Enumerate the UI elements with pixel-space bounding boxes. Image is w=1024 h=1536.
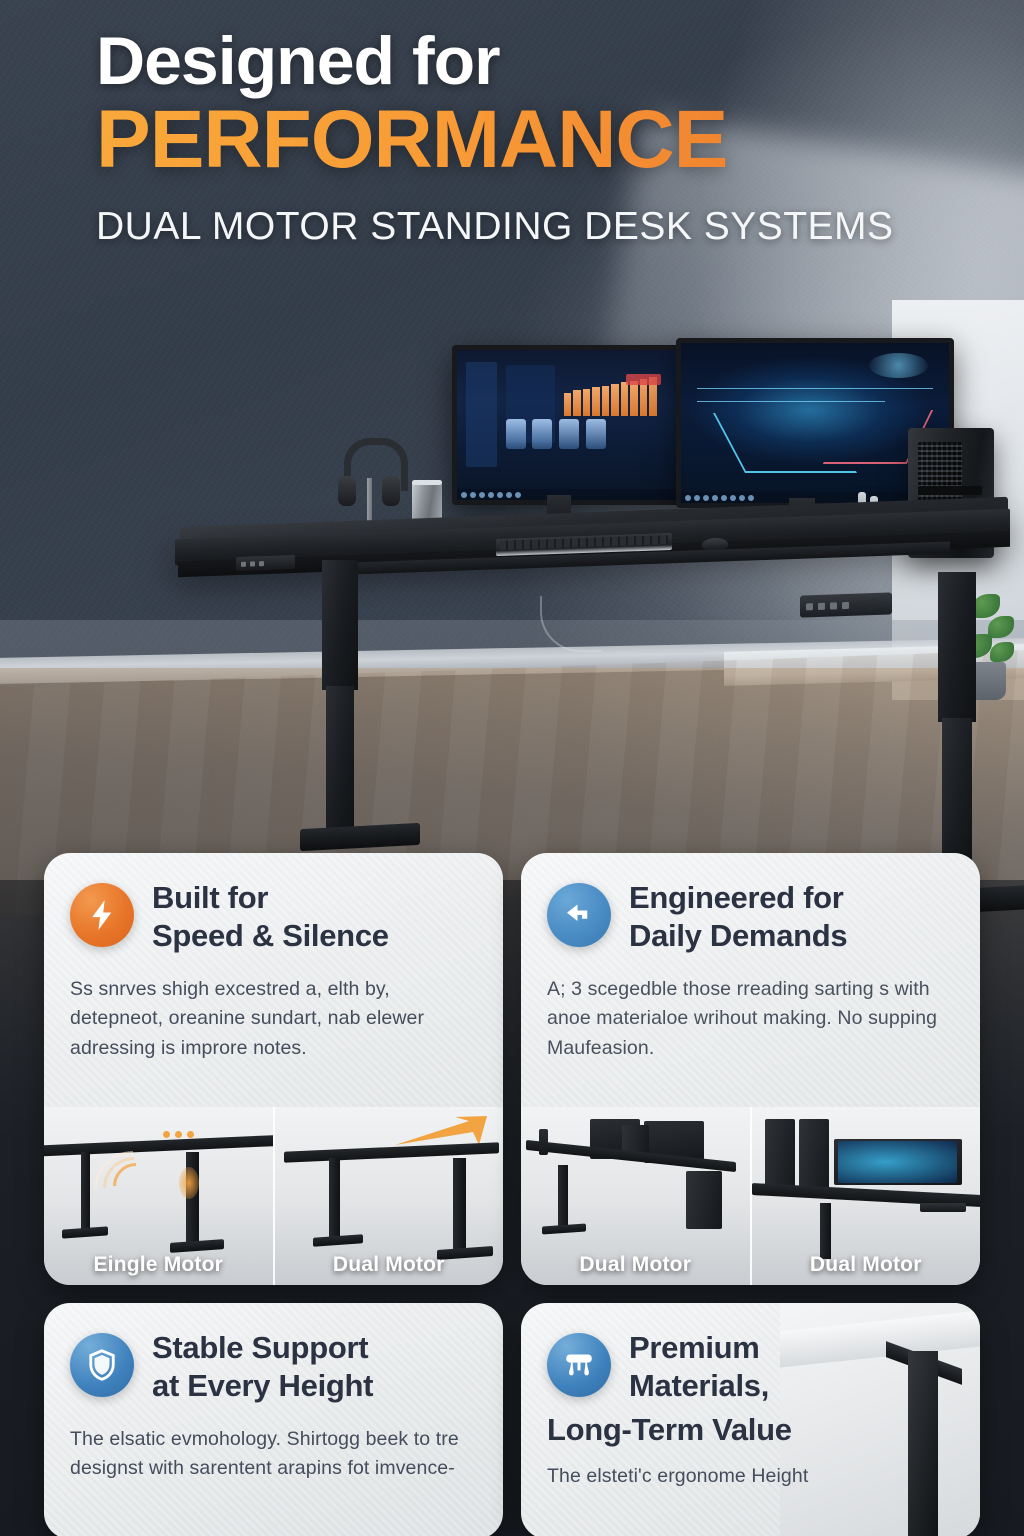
headphones-on-stand (338, 438, 400, 516)
feature-card-stable-support[interactable]: Stable Support at Every Height The elsat… (44, 1303, 503, 1536)
card-title-line-1: Premium (629, 1329, 769, 1367)
card-title: Engineered for Daily Demands (629, 879, 847, 955)
headline-primary: Designed for (96, 26, 984, 97)
thumbnail-workstation-desk: Dual Motor (750, 1107, 981, 1285)
card-thumbnail-strip: Dual Motor Dual Motor (521, 1107, 980, 1285)
poster-header: Designed for PERFORMANCE DUAL MOTOR STAN… (0, 0, 1024, 249)
feature-card-daily-demands[interactable]: Engineered for Daily Demands A; 3 sceged… (521, 853, 980, 1285)
card-body-text: The elsatic evmohology. Shirtogg beek to… (70, 1425, 477, 1484)
card-title: Stable Support at Every Height (152, 1329, 373, 1405)
thumbnail-label: Dual Motor (275, 1253, 504, 1277)
card-title: Premium Materials, (629, 1329, 769, 1405)
desk-leg-left-lower (326, 686, 354, 846)
card-body-text: A; 3 scegedble those rreading sarting s … (547, 975, 954, 1064)
desk-control-panel-small[interactable] (236, 555, 295, 571)
headphone-earcup (338, 476, 356, 506)
feature-card-speed-silence[interactable]: Built for Speed & Silence Ss snrves shig… (44, 853, 503, 1285)
headline-accent: PERFORMANCE (96, 99, 984, 181)
desk-leg-left-upper (322, 560, 358, 690)
desk-foot-left (300, 823, 420, 851)
card-title-line-3: Long-Term Value (547, 1411, 954, 1449)
thumbnail-dual-motor: Dual Motor (273, 1107, 504, 1285)
thumbnail-long-dual-desk: Dual Motor (521, 1107, 750, 1285)
desk-cable (540, 596, 602, 652)
monitor-left-screen (457, 350, 679, 500)
feature-cards-grid: Built for Speed & Silence Ss snrves shig… (0, 853, 1024, 1536)
desk-leg-right-upper (938, 572, 976, 722)
poster-page: Designed for PERFORMANCE DUAL MOTOR STAN… (0, 0, 1024, 1536)
card-thumbnail-strip: Eingle Motor Dual Motor (44, 1107, 503, 1285)
card-title-line-1: Stable Support (152, 1329, 373, 1367)
card-title-line-2: at Every Height (152, 1367, 373, 1405)
feature-card-premium-materials[interactable]: Premium Materials, Long-Term Value The e… (521, 1303, 980, 1536)
desk-height-controller[interactable] (800, 592, 892, 617)
card-title-line-1: Engineered for (629, 879, 847, 917)
card-body-text: Ss snrves shigh excestred a, elth by, de… (70, 975, 477, 1064)
card-title-line-2: Materials, (629, 1367, 769, 1405)
lightning-bolt-icon (70, 883, 134, 947)
headphone-earcup (382, 476, 400, 506)
card-title-line-1: Built for (152, 879, 389, 917)
card-title: Built for Speed & Silence (152, 879, 389, 955)
card-title-line-2: Daily Demands (629, 917, 847, 955)
thumbnail-single-motor: Eingle Motor (44, 1107, 273, 1285)
headline-subtitle: DUAL MOTOR STANDING DESK SYSTEMS (96, 205, 984, 249)
shield-icon (70, 1333, 134, 1397)
thumbnail-label: Dual Motor (521, 1253, 750, 1277)
monitor-left (452, 345, 684, 505)
card-title-line-2: Speed & Silence (152, 917, 389, 955)
pc-tower-drive-slot (918, 486, 982, 495)
desk-table-icon (547, 1333, 611, 1397)
thumbnail-label: Eingle Motor (44, 1253, 273, 1277)
speaker-arrow-icon (547, 883, 611, 947)
thumbnail-label: Dual Motor (752, 1253, 981, 1277)
card-body-text: The elsteti'c ergonome Height (547, 1462, 954, 1492)
